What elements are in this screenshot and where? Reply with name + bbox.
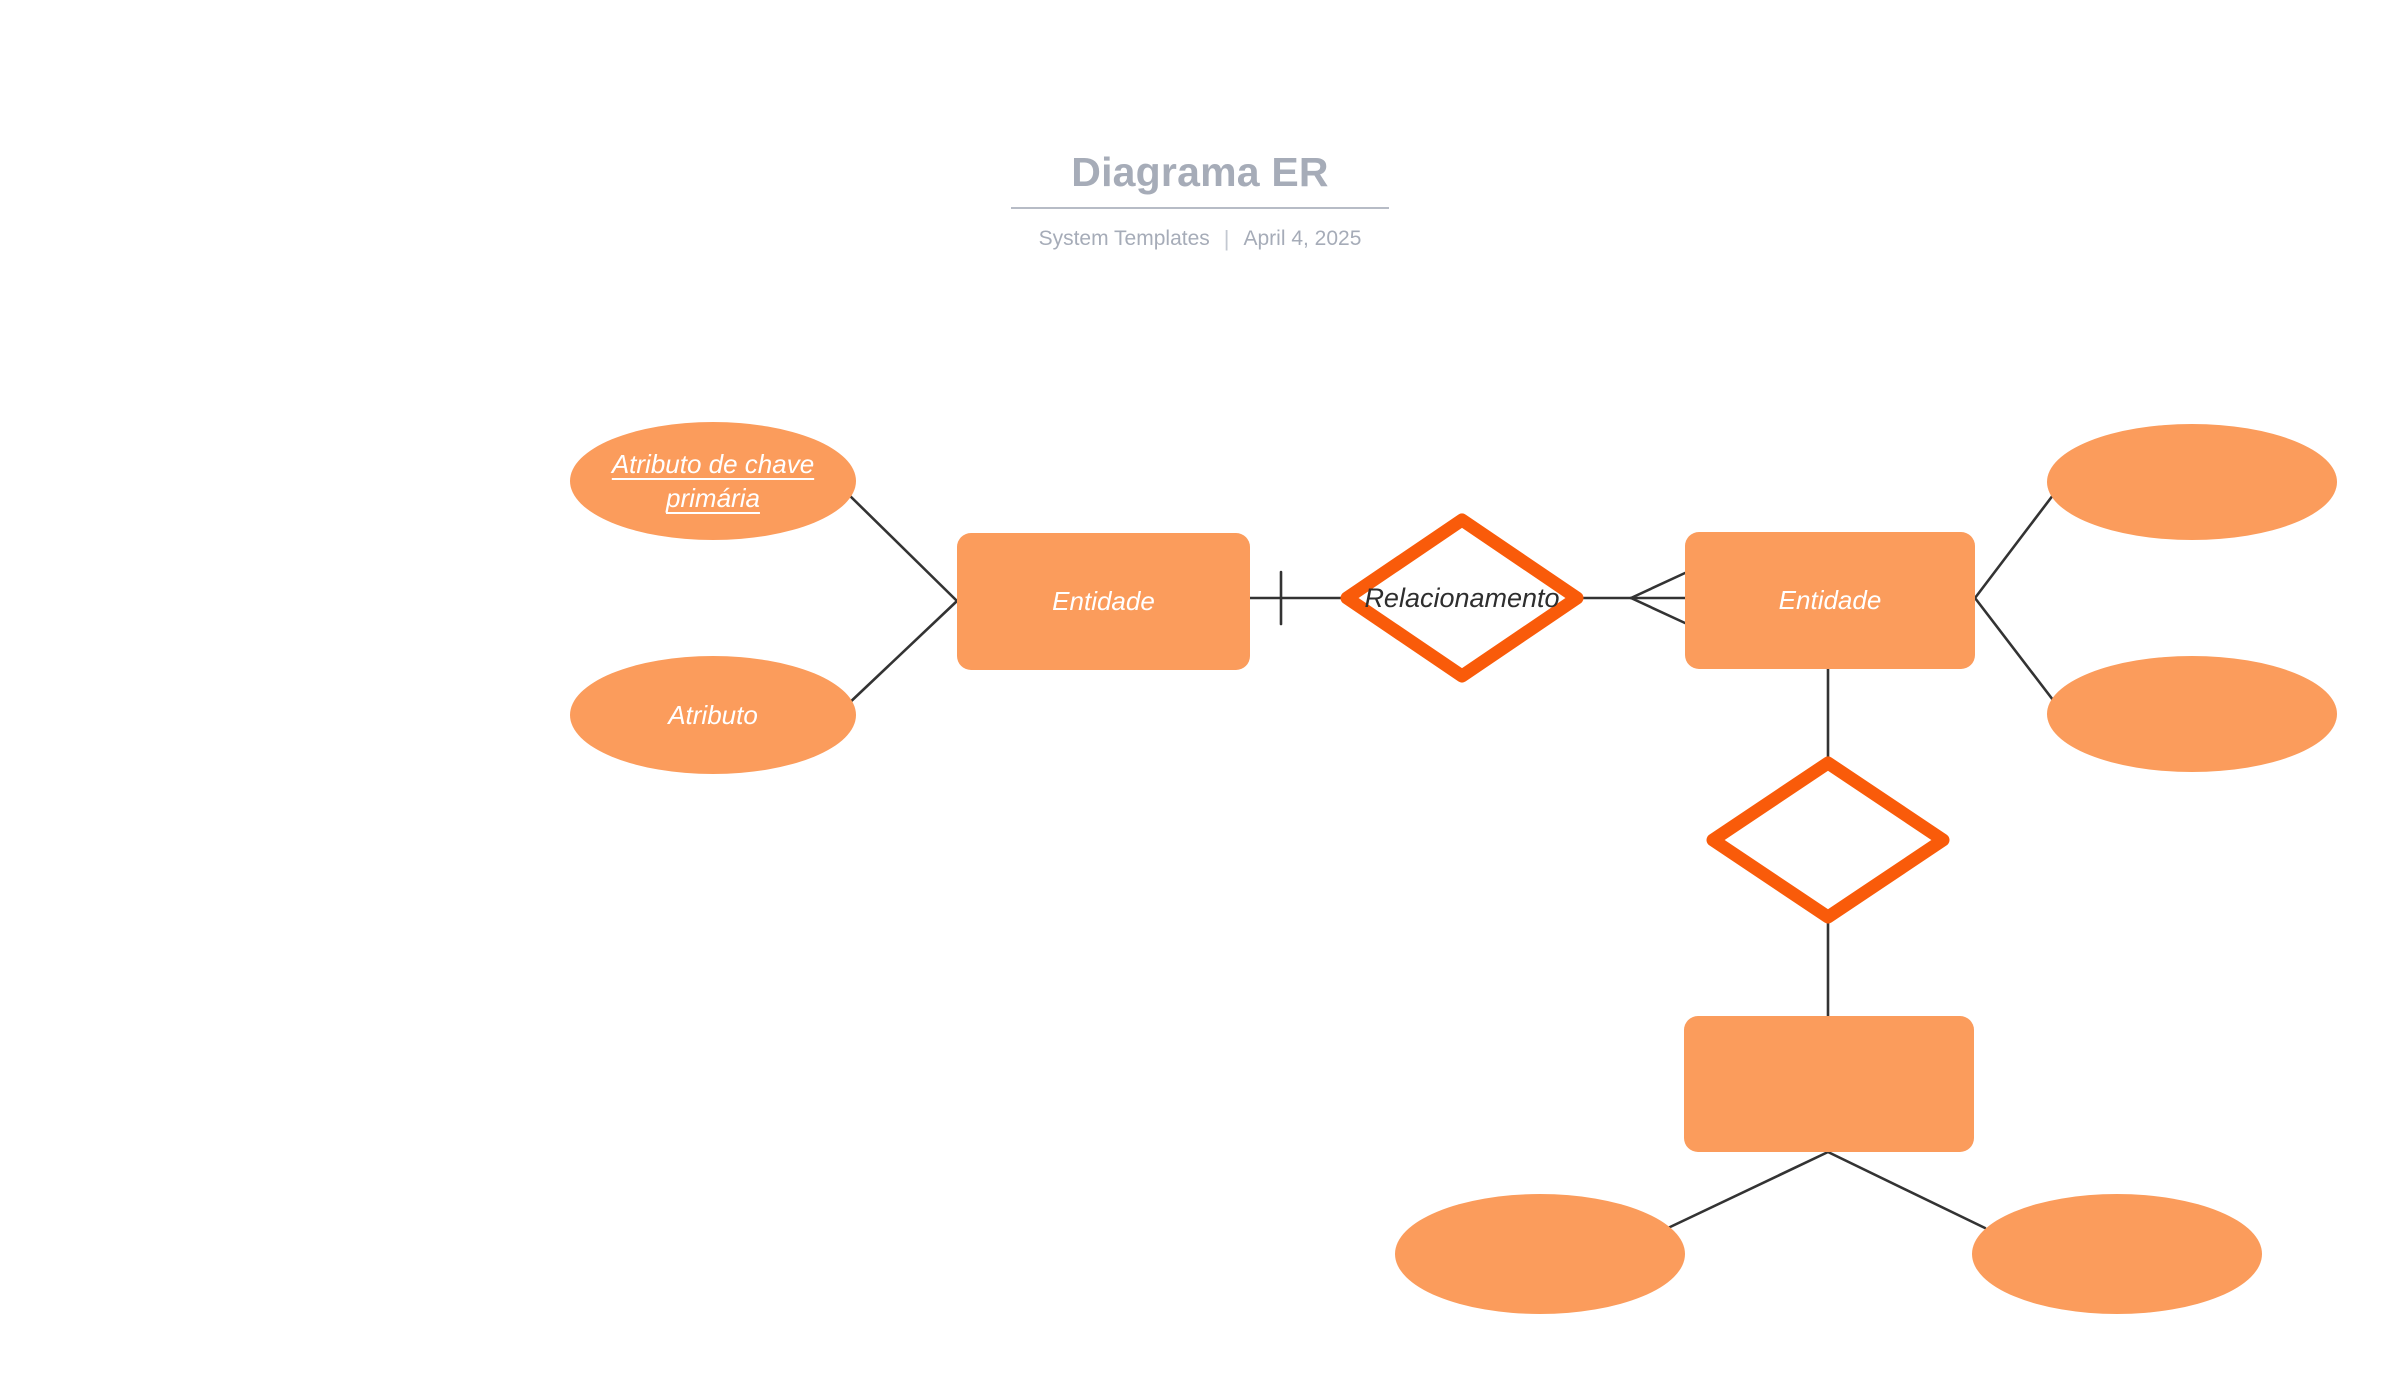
ellipse-attribute-right-top[interactable] [2047,424,2337,540]
diamond-relationship-lower[interactable] [1713,763,1943,917]
er-diagram-svg [0,0,2400,1398]
rect-entity-bottom[interactable] [1684,1016,1974,1152]
rect-entity-right[interactable] [1685,532,1975,669]
ellipse-attribute-bottom-right[interactable] [1972,1194,2262,1314]
connector-attr-to-entity[interactable] [845,601,957,707]
rect-entity-left[interactable] [957,533,1250,670]
diagram-canvas: Diagrama ER System Templates | April 4, … [0,0,2400,1398]
connector-entity-bottom-to-attr-left[interactable] [1668,1152,1828,1228]
ellipse-attribute[interactable] [570,656,856,774]
ellipse-attribute-right-bottom[interactable] [2047,656,2337,772]
diamond-relationship-main[interactable] [1347,520,1577,676]
ellipse-attribute-primary-key[interactable] [570,422,856,540]
connector-entity-bottom-to-attr-right[interactable] [1828,1152,1985,1228]
shape-layer [570,422,2337,1314]
ellipse-attribute-bottom-left[interactable] [1395,1194,1685,1314]
connector-pk-to-entity[interactable] [845,491,957,601]
